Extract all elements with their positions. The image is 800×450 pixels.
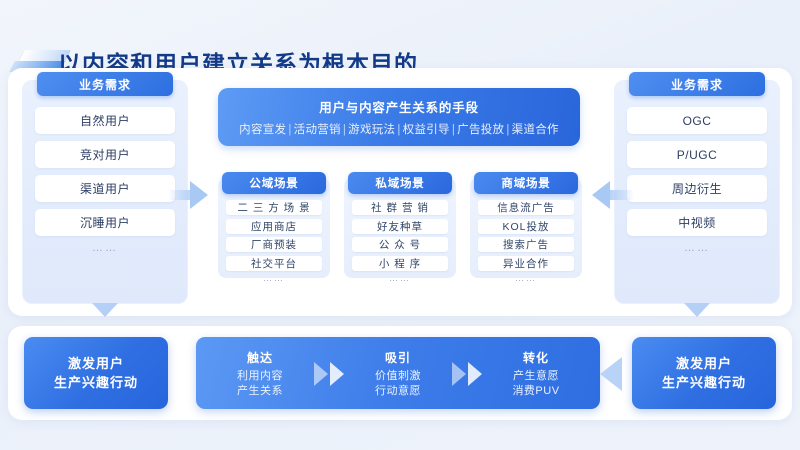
funnel-stage-convert[interactable]: 转化 产生意愿 消费PUV [488, 346, 584, 402]
methods-banner: 用户与内容产生关系的手段 内容宣发|活动营销|游戏玩法|权益引导|广告投放|渠道… [218, 88, 580, 146]
arrow-down-icon-right [684, 303, 710, 317]
methods-banner-tags: 内容宣发|活动营销|游戏玩法|权益引导|广告投放|渠道合作 [239, 121, 559, 137]
scene-more: …… [352, 274, 448, 282]
scene-list: 二 三 方 场 景 应用商店 厂商预装 社交平台 …… [226, 200, 322, 282]
tag-separator: | [288, 124, 291, 136]
stage-title: 转化 [523, 349, 549, 366]
list-item[interactable]: 自然用户 [35, 107, 175, 134]
list-item[interactable]: KOL投放 [478, 219, 574, 234]
right-demand-pill: 业务需求 [629, 72, 765, 96]
arrow-right-tail [168, 190, 192, 200]
list-item[interactable]: 周边衍生 [627, 175, 767, 202]
arrow-left-icon [592, 181, 610, 209]
list-item[interactable]: 竞对用户 [35, 141, 175, 168]
list-item[interactable]: 社 群 营 销 [352, 200, 448, 215]
left-demand-pill: 业务需求 [37, 72, 173, 96]
scene-header: 商域场景 [474, 172, 578, 194]
tag-item: 渠道合作 [512, 124, 559, 136]
chevron-part [468, 362, 482, 386]
scene-list: 信息流广告 KOL投放 搜索广告 异业合作 …… [478, 200, 574, 282]
left-demand-panel: 业务需求 自然用户 竞对用户 渠道用户 沉睡用户 …… [22, 80, 188, 304]
list-item[interactable]: 公 众 号 [352, 237, 448, 252]
scene-header: 公域场景 [222, 172, 326, 194]
left-demand-list: 自然用户 竞对用户 渠道用户 沉睡用户 …… [35, 107, 175, 255]
goal-box-left[interactable]: 激发用户 生产兴趣行动 [24, 337, 168, 409]
stage-line2: 行动意愿 [375, 384, 421, 399]
arrow-left-tail [610, 190, 634, 200]
funnel-stage-attract[interactable]: 吸引 价值刺激 行动意愿 [350, 346, 446, 402]
tag-item: 广告投放 [457, 124, 504, 136]
funnel-stage-reach[interactable]: 触达 利用内容 产生关系 [212, 346, 308, 402]
arrow-down-icon-left [92, 303, 118, 317]
goal-right-line2: 生产兴趣行动 [662, 373, 746, 392]
stage-line1: 价值刺激 [375, 369, 421, 384]
tag-item: 权益引导 [403, 124, 450, 136]
right-demand-panel: 业务需求 OGC P/UGC 周边衍生 中视频 …… [614, 80, 780, 304]
scene-column-private: 私域场景 社 群 营 销 好友种草 公 众 号 小 程 序 …… [344, 178, 456, 278]
left-demand-more: …… [35, 243, 175, 255]
right-demand-more: …… [627, 243, 767, 255]
tag-item: 内容宣发 [239, 124, 286, 136]
tag-item: 活动营销 [294, 124, 341, 136]
arrow-left-icon-bottom [600, 357, 622, 391]
scene-column-commercial: 商域场景 信息流广告 KOL投放 搜索广告 异业合作 …… [470, 178, 582, 278]
right-demand-list: OGC P/UGC 周边衍生 中视频 …… [627, 107, 767, 255]
list-item[interactable]: 好友种草 [352, 219, 448, 234]
funnel-panel: 触达 利用内容 产生关系 吸引 价值刺激 行动意愿 转化 产生意愿 消费PUV [196, 337, 600, 409]
stage-title: 吸引 [385, 349, 411, 366]
tag-separator: | [397, 124, 400, 136]
list-item[interactable]: OGC [627, 107, 767, 134]
stage-title: 触达 [247, 349, 273, 366]
list-item[interactable]: 异业合作 [478, 256, 574, 271]
list-item[interactable]: P/UGC [627, 141, 767, 168]
scene-more: …… [478, 274, 574, 282]
scene-more: …… [226, 274, 322, 282]
stage-line2: 产生关系 [237, 384, 283, 399]
stage-line1: 产生意愿 [513, 369, 559, 384]
list-item[interactable]: 小 程 序 [352, 256, 448, 271]
stage-line1: 利用内容 [237, 369, 283, 384]
list-item[interactable]: 信息流广告 [478, 200, 574, 215]
list-item[interactable]: 沉睡用户 [35, 209, 175, 236]
list-item[interactable]: 社交平台 [226, 256, 322, 271]
goal-right-line1: 激发用户 [676, 354, 732, 373]
chevron-part [314, 362, 328, 386]
list-item[interactable]: 渠道用户 [35, 175, 175, 202]
tag-separator: | [343, 124, 346, 136]
chevron-part [452, 362, 466, 386]
methods-banner-title: 用户与内容产生关系的手段 [319, 97, 479, 116]
chevron-part [330, 362, 344, 386]
stage-line2: 消费PUV [512, 384, 559, 399]
list-item[interactable]: 二 三 方 场 景 [226, 200, 322, 215]
tag-separator: | [452, 124, 455, 136]
arrow-right-icon [190, 181, 208, 209]
goal-box-right[interactable]: 激发用户 生产兴趣行动 [632, 337, 776, 409]
list-item[interactable]: 搜索广告 [478, 237, 574, 252]
goal-left-line1: 激发用户 [68, 354, 124, 373]
list-item[interactable]: 应用商店 [226, 219, 322, 234]
tag-separator: | [506, 124, 509, 136]
goal-left-line2: 生产兴趣行动 [54, 373, 138, 392]
scene-header: 私域场景 [348, 172, 452, 194]
scene-column-public: 公域场景 二 三 方 场 景 应用商店 厂商预装 社交平台 …… [218, 178, 330, 278]
list-item[interactable]: 厂商预装 [226, 237, 322, 252]
tag-item: 游戏玩法 [348, 124, 395, 136]
list-item[interactable]: 中视频 [627, 209, 767, 236]
scene-list: 社 群 营 销 好友种草 公 众 号 小 程 序 …… [352, 200, 448, 282]
page-header: 以内容和用户建立关系为根本目的 [0, 22, 800, 66]
